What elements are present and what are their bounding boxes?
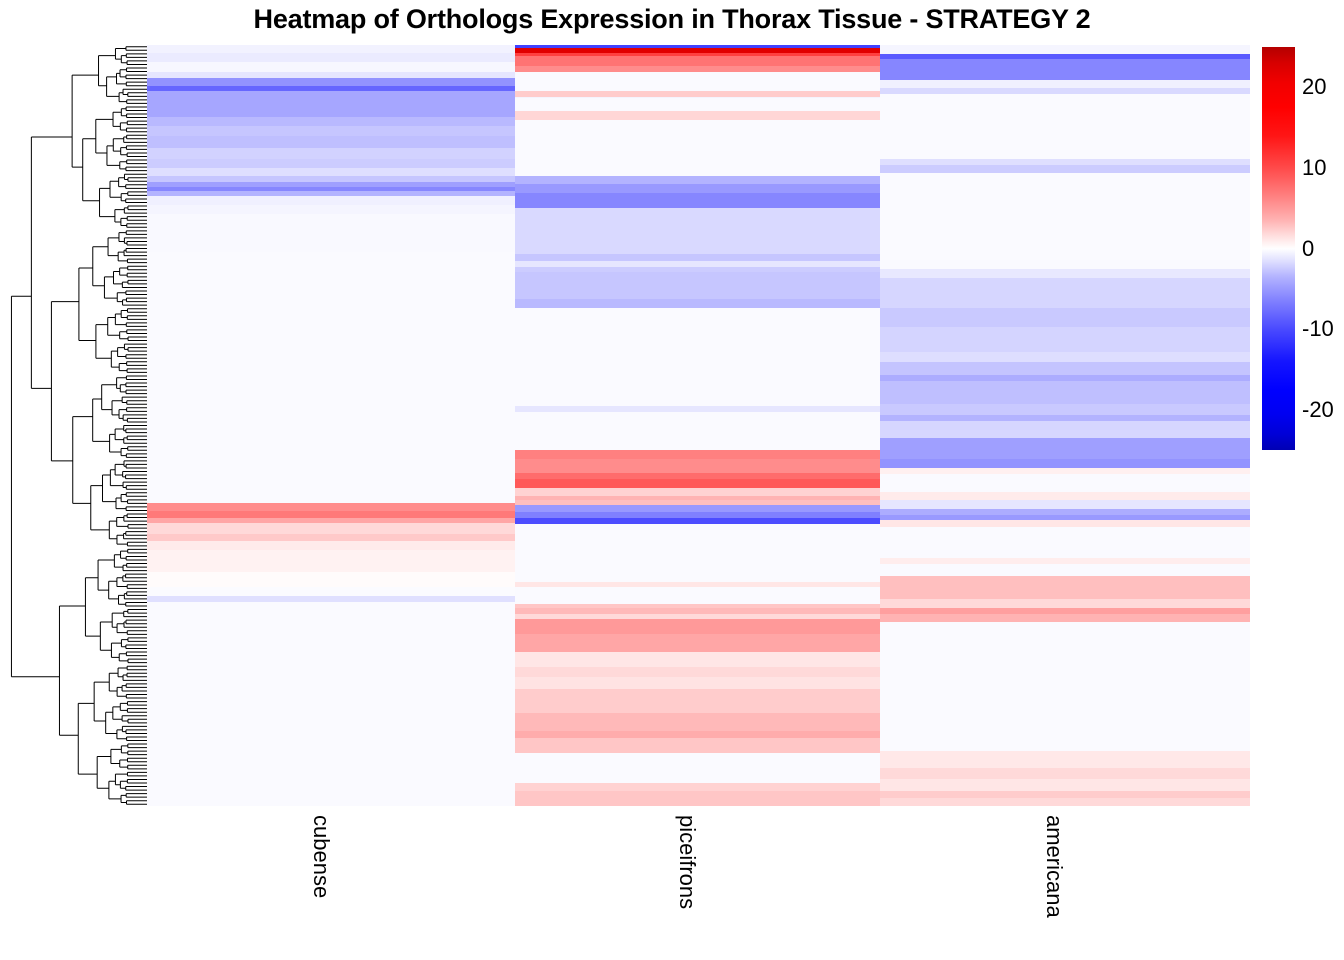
heatmap-band (147, 62, 515, 73)
heatmap-band (515, 56, 880, 65)
heatmap-band (147, 572, 515, 587)
heatmap-band (147, 53, 515, 62)
heatmap-band (147, 587, 515, 596)
heatmap-band (147, 602, 515, 806)
heatmap-band (147, 78, 515, 86)
heatmap-band (515, 783, 880, 791)
heatmap-band (147, 550, 515, 571)
heatmap-band (147, 214, 515, 252)
colorbar (1262, 47, 1295, 450)
heatmap-band (880, 768, 1250, 779)
heatmap-band (515, 667, 880, 676)
heatmap-band (147, 252, 515, 503)
heatmap-band (880, 527, 1250, 557)
heatmap-band (515, 587, 880, 604)
xaxis-label-americana: americana (1041, 815, 1067, 918)
heatmap-band (880, 381, 1250, 404)
heatmap-band (515, 72, 880, 92)
heatmap-band (880, 308, 1250, 326)
heatmap-band (515, 208, 880, 254)
heatmap-band (147, 159, 515, 168)
heatmap-band (880, 599, 1250, 608)
heatmap-band (880, 622, 1250, 751)
heatmap-band (880, 80, 1250, 88)
colorbar-tick-20: 20 (1302, 74, 1326, 100)
heatmap-band (880, 269, 1250, 278)
heatmap-band (880, 59, 1250, 80)
heatmap-band (515, 450, 880, 459)
heatmap-band (880, 459, 1250, 468)
heatmap-band (515, 753, 880, 783)
heatmap-band (515, 488, 880, 496)
colorbar-tick-neg10: -10 (1302, 316, 1334, 342)
heatmap-band (147, 168, 515, 176)
heatmap-band (880, 798, 1250, 806)
heatmap-band (515, 652, 880, 667)
heatmap-band (880, 576, 1250, 599)
heatmap-band (880, 94, 1250, 159)
heatmap-band (880, 492, 1250, 500)
heatmap-band (515, 713, 880, 731)
heatmap-band (515, 412, 880, 450)
heatmap-column-piceifrons (515, 45, 880, 806)
heatmap-band (147, 117, 515, 126)
heatmap-band (880, 520, 1250, 528)
heatmap-band (880, 751, 1250, 768)
heatmap-band (880, 278, 1250, 308)
heatmap-band (515, 193, 880, 208)
heatmap-band (880, 779, 1250, 791)
xaxis-label-cubense: cubense (308, 815, 334, 898)
dendrogram-links (11, 47, 147, 804)
heatmap-band (515, 459, 880, 473)
heatmap-band (515, 479, 880, 488)
heatmap-column-cubense (147, 45, 515, 806)
heatmap-band (515, 299, 880, 308)
heatmap-band (147, 511, 515, 519)
heatmap-band (147, 534, 515, 542)
heatmap-band (147, 541, 515, 550)
heatmap-band (880, 791, 1250, 799)
heatmap-band (515, 176, 880, 184)
heatmap-band (515, 111, 880, 120)
heatmap-figure: Heatmap of Orthologs Expression in Thora… (0, 0, 1344, 960)
heatmap-band (147, 205, 515, 214)
heatmap-band (515, 619, 880, 634)
colorbar-tick-neg20: -20 (1302, 397, 1334, 423)
heatmap-band (147, 45, 515, 53)
page-title: Heatmap of Orthologs Expression in Thora… (0, 4, 1344, 35)
heatmap-band (880, 362, 1250, 376)
heatmap-band (515, 272, 880, 299)
heatmap-band (147, 148, 515, 159)
heatmap-band (147, 523, 515, 534)
heatmap-band (880, 404, 1250, 415)
heatmap-band (147, 126, 515, 137)
heatmap-band (515, 98, 880, 112)
heatmap-band (880, 352, 1250, 361)
heatmap-body (147, 45, 1250, 806)
heatmap-band (880, 564, 1250, 576)
colorbar-tick-10: 10 (1302, 155, 1326, 181)
heatmap-band (147, 91, 515, 117)
heatmap-band (880, 421, 1250, 438)
heatmap-band (147, 196, 515, 205)
row-dendrogram (8, 45, 147, 806)
heatmap-band (515, 254, 880, 262)
heatmap-band (880, 45, 1250, 54)
heatmap-band (515, 791, 880, 806)
heatmap-band (515, 524, 880, 582)
heatmap-band (515, 184, 880, 193)
xaxis-label-piceifrons: piceifrons (674, 815, 700, 909)
heatmap-band (880, 500, 1250, 509)
heatmap-band (880, 438, 1250, 459)
heatmap-column-americana (880, 45, 1250, 806)
heatmap-band (880, 173, 1250, 269)
heatmap-band (147, 136, 515, 148)
colorbar-gradient (1262, 47, 1295, 450)
heatmap-band (515, 634, 880, 652)
heatmap-band (515, 738, 880, 753)
heatmap-band (515, 308, 880, 405)
heatmap-band (880, 614, 1250, 622)
heatmap-band (880, 165, 1250, 173)
heatmap-band (515, 120, 880, 176)
heatmap-band (880, 327, 1250, 353)
heatmap-band (515, 505, 880, 513)
heatmap-band (147, 503, 515, 511)
colorbar-tick-0: 0 (1302, 236, 1314, 262)
heatmap-band (515, 677, 880, 689)
heatmap-band (515, 689, 880, 713)
heatmap-band (880, 474, 1250, 492)
